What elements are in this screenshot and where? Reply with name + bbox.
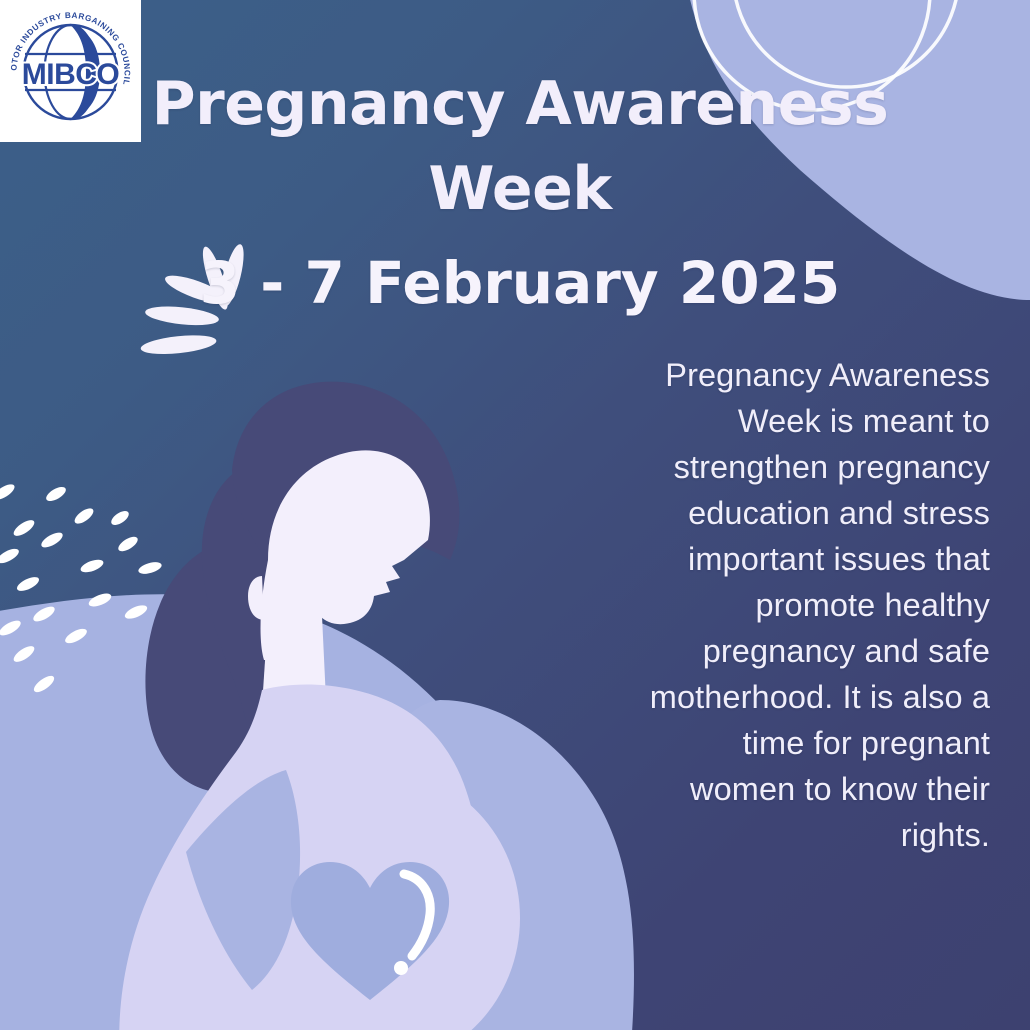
logo-wordmark: MIBCO — [22, 58, 120, 91]
heart-highlight-dot — [394, 961, 408, 975]
poster-canvas: MOTOR INDUSTRY BARGAINING COUNCIL MIBCO … — [0, 0, 1030, 1030]
mibco-logo-graphic: MOTOR INDUSTRY BARGAINING COUNCIL MIBCO — [0, 0, 141, 142]
background-artwork — [0, 0, 1030, 1030]
mibco-logo: MOTOR INDUSTRY BARGAINING COUNCIL MIBCO — [0, 0, 141, 142]
